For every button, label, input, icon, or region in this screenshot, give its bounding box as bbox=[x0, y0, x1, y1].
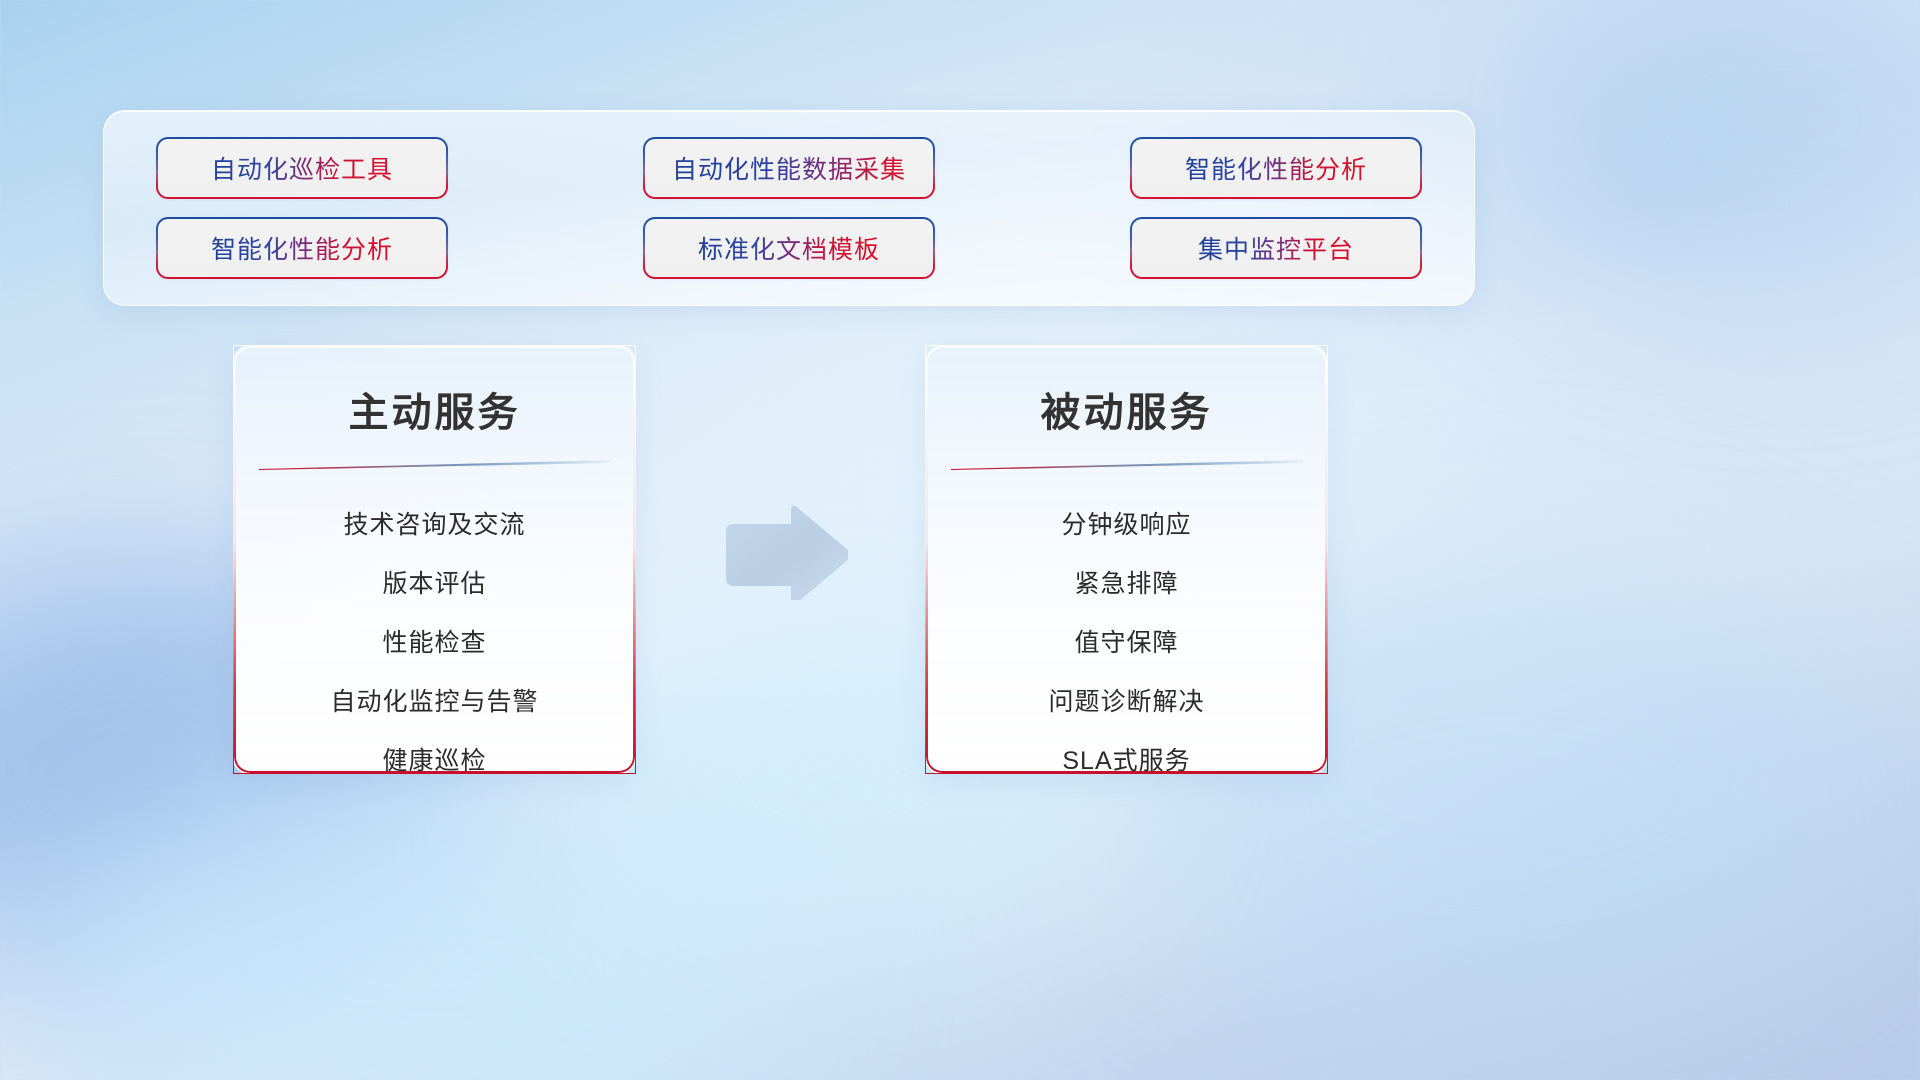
capability-tag-row-2: 智能化性能分析 标准化文档模板 集中监控平台 bbox=[156, 217, 1422, 279]
capability-tag-intelligent-performance-analysis-top[interactable]: 智能化性能分析 bbox=[1130, 137, 1422, 199]
list-item: 版本评估 bbox=[264, 555, 605, 614]
capability-tag-automated-performance-data-collection[interactable]: 自动化性能数据采集 bbox=[643, 137, 935, 199]
capability-tag-panel: 自动化巡检工具 自动化性能数据采集 智能化性能分析 智能化性能分析 标准化文档模… bbox=[103, 110, 1475, 306]
capability-tag-label: 智能化性能分析 bbox=[211, 230, 393, 266]
title-underline-gradient bbox=[259, 460, 611, 470]
service-card-content: 主动服务 技术咨询及交流 版本评估 性能检查 bbox=[234, 346, 635, 773]
capability-tag-label: 标准化文档模板 bbox=[698, 230, 880, 266]
capability-tag-row-1: 自动化巡检工具 自动化性能数据采集 智能化性能分析 bbox=[156, 137, 1422, 199]
background-glow-bottom-left bbox=[40, 760, 800, 1080]
capability-tag-automated-inspection-tool[interactable]: 自动化巡检工具 bbox=[156, 137, 448, 199]
service-card-content: 被动服务 分钟级响应 紧急排障 值守保障 bbox=[926, 346, 1327, 773]
capability-tag-intelligent-performance-analysis-bottom[interactable]: 智能化性能分析 bbox=[156, 217, 448, 279]
capability-tag-label: 自动化性能数据采集 bbox=[672, 150, 906, 186]
capability-tag-centralized-monitoring-platform[interactable]: 集中监控平台 bbox=[1130, 217, 1422, 279]
underline-shape-icon bbox=[259, 460, 611, 470]
list-item: 值守保障 bbox=[956, 614, 1297, 673]
list-item: 分钟级响应 bbox=[956, 496, 1297, 555]
arrow-right-icon bbox=[718, 503, 848, 600]
capability-tag-standardized-document-template[interactable]: 标准化文档模板 bbox=[643, 217, 935, 279]
list-item: 紧急排障 bbox=[956, 555, 1297, 614]
service-card-reactive: 被动服务 分钟级响应 紧急排障 值守保障 bbox=[925, 345, 1328, 774]
service-item-list: 分钟级响应 紧急排障 值守保障 问题诊断解决 SLA式服务 bbox=[956, 496, 1297, 774]
service-card-title: 主动服务 bbox=[349, 380, 521, 438]
title-underline-gradient bbox=[951, 460, 1303, 470]
list-item: 性能检查 bbox=[264, 614, 605, 673]
capability-tag-label: 智能化性能分析 bbox=[1185, 150, 1367, 186]
list-item: 健康巡检 bbox=[264, 732, 605, 774]
list-item: 技术咨询及交流 bbox=[264, 496, 605, 555]
background-glow-top-right bbox=[1500, 0, 1920, 300]
service-card-proactive: 主动服务 技术咨询及交流 版本评估 性能检查 bbox=[233, 345, 636, 774]
capability-tag-label: 集中监控平台 bbox=[1198, 230, 1354, 266]
underline-shape-icon bbox=[951, 460, 1303, 470]
service-item-list: 技术咨询及交流 版本评估 性能检查 自动化监控与告警 健康巡检 bbox=[264, 496, 605, 774]
arrow-shape-icon bbox=[718, 503, 848, 600]
capability-tag-label: 自动化巡检工具 bbox=[211, 150, 393, 186]
list-item: SLA式服务 bbox=[956, 732, 1297, 774]
service-card-title: 被动服务 bbox=[1041, 380, 1213, 438]
list-item: 问题诊断解决 bbox=[956, 673, 1297, 732]
list-item: 自动化监控与告警 bbox=[264, 673, 605, 732]
